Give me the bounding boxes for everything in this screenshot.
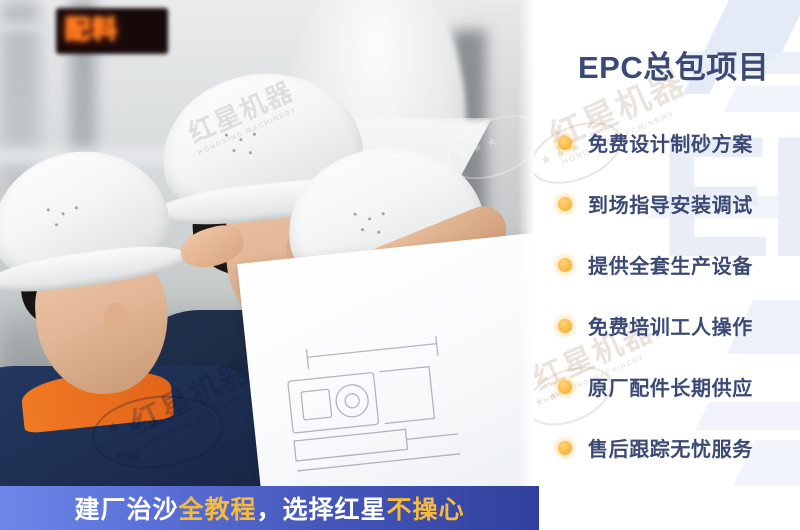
feature-label: 免费设计制砂方案: [588, 128, 753, 157]
list-item: 售后跟踪无忧服务: [552, 431, 800, 464]
feature-label: 到场指导安装调试: [588, 189, 753, 218]
dot-bullet-icon: [552, 252, 578, 278]
list-item: 免费培训工人操作: [552, 309, 800, 342]
dot-bullet-icon: [552, 374, 578, 400]
slogan-highlight-2: 不操心: [387, 496, 465, 524]
feature-label: 提供全套生产设备: [588, 250, 753, 279]
worker-left-ear: [104, 302, 128, 334]
slogan-part-2: ，选择红星: [257, 496, 387, 524]
list-item: 免费设计制砂方案: [552, 126, 800, 159]
feature-label: 免费培训工人操作: [588, 311, 753, 340]
led-sign-text: 配料: [65, 17, 119, 43]
dot-bullet-icon: [552, 130, 578, 156]
worker-left: [0, 152, 274, 530]
photo-right-fade: [518, 0, 534, 530]
feature-list: 免费设计制砂方案 到场指导安装调试 提供全套生产设备 免费培训工人操作 原厂配件…: [552, 126, 800, 492]
slogan-highlight-1: 全教程: [178, 496, 256, 524]
banner-right-fade: [529, 486, 539, 530]
list-item: 到场指导安装调试: [552, 187, 800, 220]
dot-bullet-icon: [552, 313, 578, 339]
led-display-sign: 配料: [56, 8, 168, 54]
feature-label: 原厂配件长期供应: [588, 372, 753, 401]
slogan-part-1: 建厂治沙: [74, 496, 178, 524]
slogan-text: 建厂治沙全教程，选择红星不操心: [74, 490, 464, 526]
features-panel: EPC 红星机器 HONGXING MACHINERY ★★★ 红星机器 HON…: [534, 0, 800, 530]
dot-bullet-icon: [552, 435, 578, 461]
hard-hat-icon: [0, 140, 176, 291]
list-item: 原厂配件长期供应: [552, 370, 800, 403]
dot-bullet-icon: [552, 191, 578, 217]
blueprint-drawing: [237, 230, 534, 530]
list-item: 提供全套生产设备: [552, 248, 800, 281]
page-title: EPC总包项目: [578, 42, 769, 87]
blueprint-sketch-icon: [276, 323, 481, 492]
workers-photo: 配料: [0, 0, 534, 530]
bottom-slogan-banner: 建厂治沙全教程，选择红星不操心: [0, 486, 539, 530]
feature-label: 售后跟踪无忧服务: [588, 433, 753, 462]
promo-banner-canvas: 配料: [0, 0, 800, 530]
